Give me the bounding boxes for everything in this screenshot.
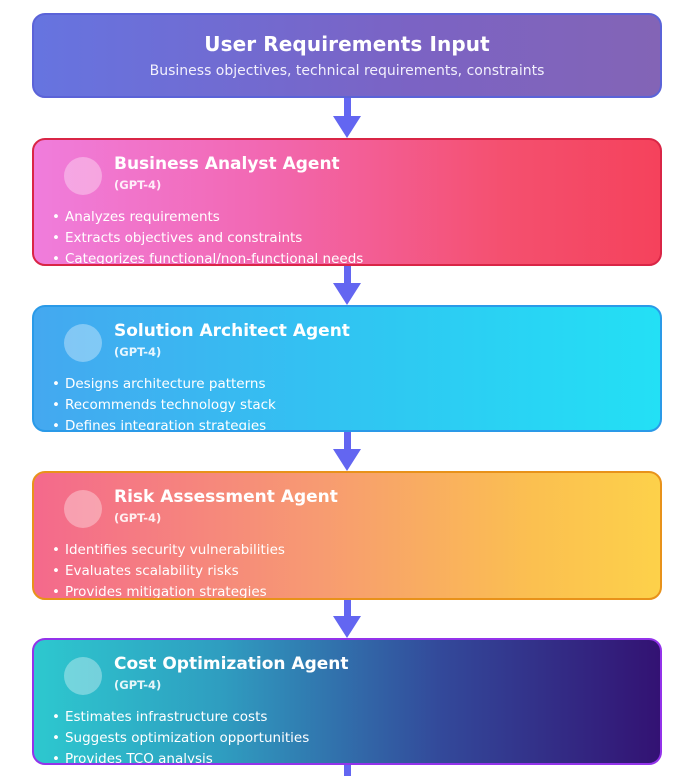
bullet-icon: •	[52, 209, 60, 225]
agent-model-label: (GPT-4)	[114, 511, 338, 526]
connector-stem	[344, 600, 351, 618]
agent-header: Cost Optimization Agent (GPT-4)	[52, 654, 642, 703]
list-item: •Designs architecture patterns	[52, 374, 642, 395]
bullet-icon: •	[52, 709, 60, 725]
node-business-analyst-agent[interactable]: Business Analyst Agent (GPT-4) •Analyzes…	[32, 138, 662, 266]
connector-arrowhead	[333, 449, 361, 471]
task-label: Recommends technology stack	[65, 397, 276, 413]
task-label: Evaluates scalability risks	[65, 563, 239, 579]
agent-title: Business Analyst Agent	[114, 154, 340, 175]
connector-stem	[344, 432, 351, 451]
task-label: Provides mitigation strategies	[65, 584, 267, 600]
agent-header: Business Analyst Agent (GPT-4)	[52, 154, 642, 203]
agent-model-label: (GPT-4)	[114, 678, 349, 693]
connector-solution-architect-to-risk-assessment	[0, 432, 694, 471]
node-cost-optimization-agent[interactable]: Cost Optimization Agent (GPT-4) •Estimat…	[32, 638, 662, 765]
list-item: •Suggests optimization opportunities	[52, 728, 642, 749]
agent-header: Risk Assessment Agent (GPT-4)	[52, 487, 642, 536]
bullet-icon: •	[52, 563, 60, 579]
connector-risk-assessment-to-cost-optimization	[0, 600, 694, 638]
list-item: •Defines integration strategies	[52, 416, 642, 432]
list-item: •Provides mitigation strategies	[52, 582, 642, 600]
agent-header: Solution Architect Agent (GPT-4)	[52, 321, 642, 370]
connector-arrowhead	[333, 616, 361, 638]
bullet-icon: •	[52, 730, 60, 746]
agent-title-group: Risk Assessment Agent (GPT-4)	[114, 487, 338, 526]
agent-avatar-icon	[64, 490, 102, 528]
task-label: Defines integration strategies	[65, 418, 266, 432]
connector-stem	[344, 266, 351, 285]
agent-title: Solution Architect Agent	[114, 321, 350, 342]
agent-title: Risk Assessment Agent	[114, 487, 338, 508]
task-label: Analyzes requirements	[65, 209, 220, 225]
agent-avatar-icon	[64, 324, 102, 362]
connector-arrowhead	[333, 116, 361, 138]
task-label: Identifies security vulnerabilities	[65, 542, 285, 558]
agent-avatar-icon	[64, 157, 102, 195]
list-item: •Extracts objectives and constraints	[52, 228, 642, 249]
bullet-icon: •	[52, 376, 60, 392]
task-label: Provides TCO analysis	[65, 751, 213, 765]
node-risk-assessment-agent[interactable]: Risk Assessment Agent (GPT-4) •Identifie…	[32, 471, 662, 600]
agent-title-group: Solution Architect Agent (GPT-4)	[114, 321, 350, 360]
bullet-icon: •	[52, 418, 60, 432]
agent-model-label: (GPT-4)	[114, 345, 350, 360]
task-label: Suggests optimization opportunities	[65, 730, 309, 746]
task-label: Extracts objectives and constraints	[65, 230, 302, 246]
task-label: Categorizes functional/non-functional ne…	[65, 251, 363, 266]
list-item: •Estimates infrastructure costs	[52, 707, 642, 728]
agent-task-list: •Estimates infrastructure costs •Suggest…	[52, 707, 642, 765]
agent-title-group: Cost Optimization Agent (GPT-4)	[114, 654, 349, 693]
bullet-icon: •	[52, 584, 60, 600]
connector-arrowhead	[333, 283, 361, 305]
bullet-icon: •	[52, 230, 60, 246]
agent-pipeline-flowchart: User Requirements Input Business objecti…	[0, 0, 694, 776]
agent-avatar-icon	[64, 657, 102, 695]
connector-stem	[344, 765, 351, 776]
connector-cost-optimization-to-next	[0, 765, 694, 776]
bullet-icon: •	[52, 751, 60, 765]
list-item: •Analyzes requirements	[52, 207, 642, 228]
agent-task-list: •Identifies security vulnerabilities •Ev…	[52, 540, 642, 600]
list-item: •Provides TCO analysis	[52, 749, 642, 765]
task-label: Estimates infrastructure costs	[65, 709, 267, 725]
bullet-icon: •	[52, 397, 60, 413]
input-node-title: User Requirements Input	[204, 32, 490, 56]
agent-title: Cost Optimization Agent	[114, 654, 349, 675]
agent-task-list: •Analyzes requirements •Extracts objecti…	[52, 207, 642, 266]
list-item: •Recommends technology stack	[52, 395, 642, 416]
task-label: Designs architecture patterns	[65, 376, 266, 392]
bullet-icon: •	[52, 542, 60, 558]
bullet-icon: •	[52, 251, 60, 266]
connector-input-to-business-analyst	[0, 98, 694, 138]
agent-title-group: Business Analyst Agent (GPT-4)	[114, 154, 340, 193]
node-user-requirements-input[interactable]: User Requirements Input Business objecti…	[32, 13, 662, 98]
connector-business-analyst-to-solution-architect	[0, 266, 694, 305]
input-node-subtitle: Business objectives, technical requireme…	[150, 63, 545, 80]
node-solution-architect-agent[interactable]: Solution Architect Agent (GPT-4) •Design…	[32, 305, 662, 432]
connector-stem	[344, 98, 351, 118]
list-item: •Evaluates scalability risks	[52, 561, 642, 582]
agent-task-list: •Designs architecture patterns •Recommen…	[52, 374, 642, 432]
agent-model-label: (GPT-4)	[114, 178, 340, 193]
list-item: •Categorizes functional/non-functional n…	[52, 249, 642, 266]
list-item: •Identifies security vulnerabilities	[52, 540, 642, 561]
